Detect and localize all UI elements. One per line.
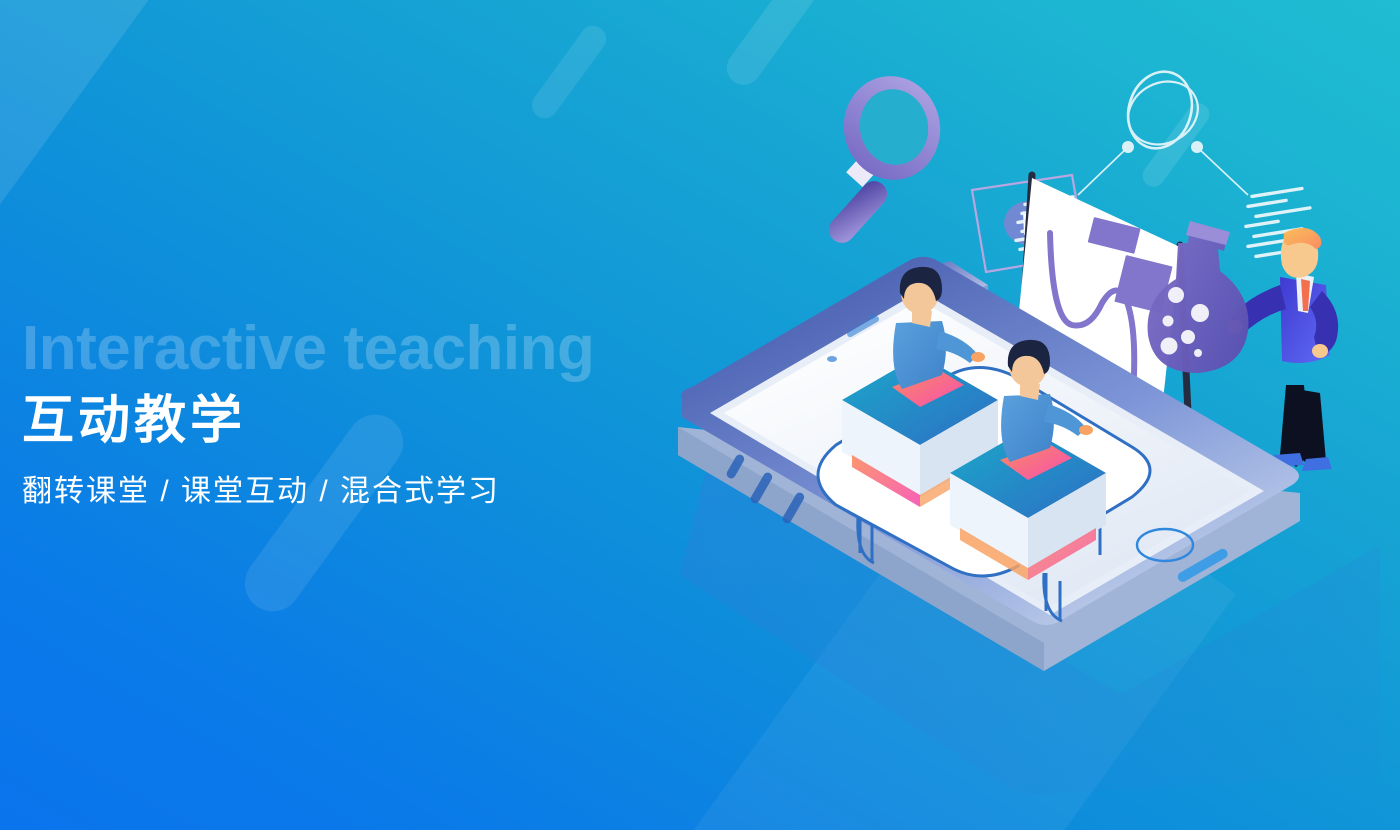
ghost-title: Interactive teaching [22,318,742,380]
scientist-figure [1227,228,1338,471]
front-camera [827,356,837,362]
page-subtitle: 翻转课堂 / 课堂互动 / 混合式学习 [22,474,742,510]
atom-network-icon [1078,63,1248,195]
page-title: 互动教学 [22,392,742,452]
magnifier-icon [824,67,950,248]
decorative-bar-small-1 [527,21,612,124]
interactive-teaching-banner: Interactive teaching 互动教学 翻转课堂 / 课堂互动 / … [0,0,1400,830]
banner-text-block: Interactive teaching 互动教学 翻转课堂 / 课堂互动 / … [22,318,742,510]
